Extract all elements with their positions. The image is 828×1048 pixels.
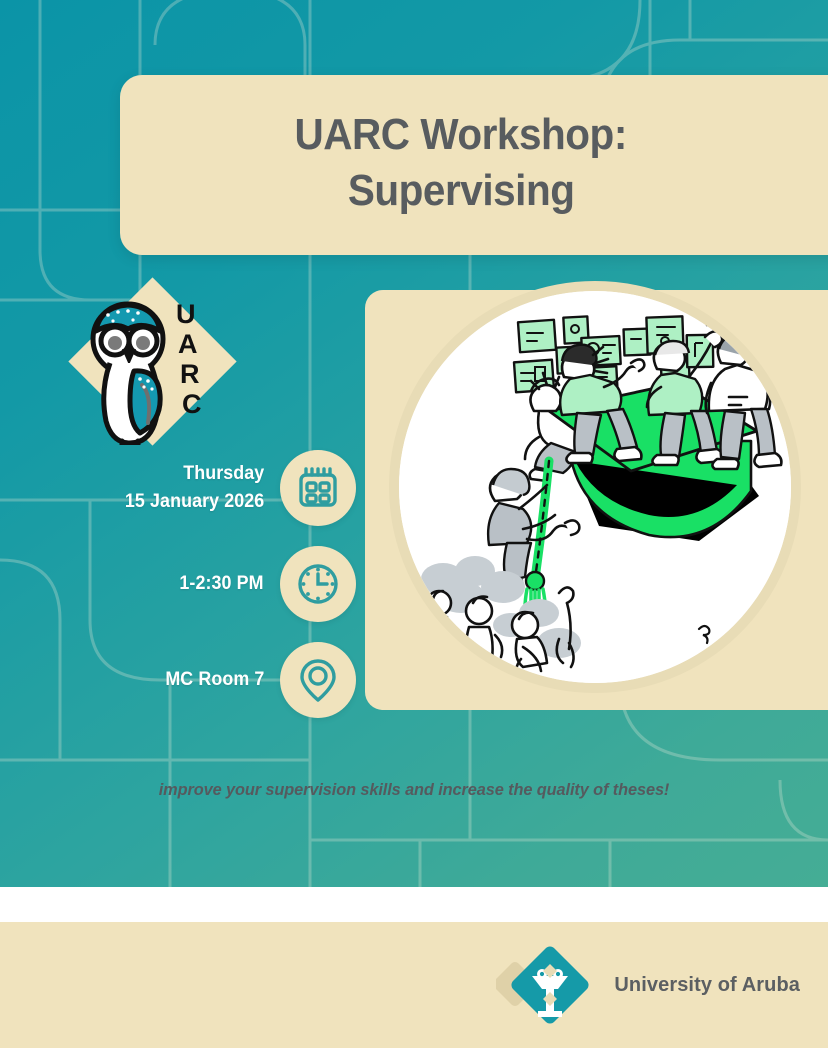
calendar-icon bbox=[280, 450, 356, 526]
uarc-logo: U A R C bbox=[68, 277, 236, 445]
footer-bar: University of Aruba bbox=[0, 922, 828, 1048]
university-logo: University of Aruba bbox=[496, 937, 800, 1033]
tagline: improve your supervision skills and incr… bbox=[17, 780, 812, 800]
detail-row-time: 1-2:30 PM bbox=[0, 536, 356, 632]
page-title-line2: Supervising bbox=[348, 161, 575, 220]
svg-text:A: A bbox=[178, 329, 198, 359]
title-card: UARC Workshop: Supervising bbox=[120, 75, 828, 255]
svg-text:U: U bbox=[176, 299, 196, 329]
owl-icon: U A R C bbox=[68, 277, 236, 445]
illustration-circle: .ink { fill:none; stroke:#111; stroke-wi… bbox=[389, 281, 801, 693]
date-text: Thursday 15 January 2026 bbox=[125, 460, 264, 517]
university-diamond-icon bbox=[496, 937, 600, 1033]
location-pin-icon bbox=[280, 642, 356, 718]
event-details: Thursday 15 January 2026 1-2:30 PM bbox=[0, 440, 356, 728]
clock-icon bbox=[280, 546, 356, 622]
university-name: University of Aruba bbox=[614, 974, 800, 997]
svg-text:R: R bbox=[180, 359, 200, 389]
page-title-line1: UARC Workshop: bbox=[295, 109, 627, 161]
detail-row-location: MC Room 7 bbox=[0, 632, 356, 728]
location-text: MC Room 7 bbox=[165, 666, 264, 695]
svg-text:C: C bbox=[182, 389, 202, 419]
white-divider bbox=[0, 887, 828, 922]
detail-row-date: Thursday 15 January 2026 bbox=[0, 440, 356, 536]
poster-root: UARC Workshop: Supervising bbox=[0, 0, 828, 1048]
time-text: 1-2:30 PM bbox=[180, 570, 264, 599]
